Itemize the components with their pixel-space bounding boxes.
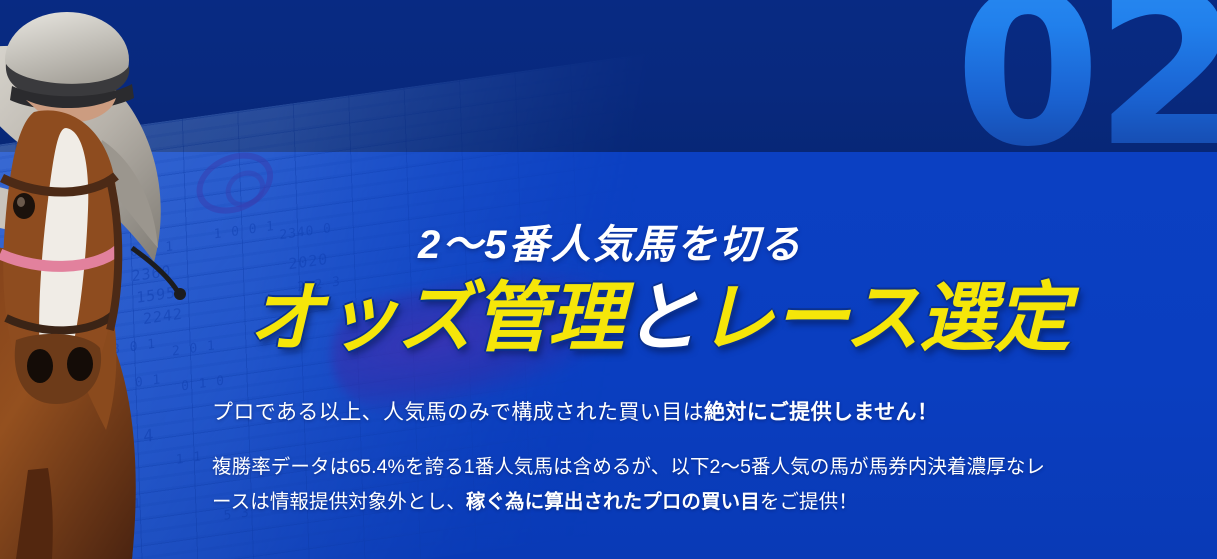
body-paragraph-line-2: ースは情報提供対象外とし、稼ぐ為に算出されたプロの買い目をご提供！ [212,485,1045,520]
lead-text-strong: 絶対にご提供しません！ [704,401,938,424]
body-paragraph-line-2-start: ースは情報提供対象外とし、 [212,491,466,513]
headline-main-part2: と [623,276,698,361]
body-paragraph-line-1: 複勝率データは65.4%を誇る1番人気馬は含めるが、以下2〜5番人気の馬が馬券内… [212,450,1045,485]
headline-main-part3: レース選定 [698,276,1069,361]
headline-main: オッズ管理とレース選定 [248,281,1069,357]
lead-text: プロである以上、人気馬のみで構成された買い目は絶対にご提供しません！ [212,396,938,426]
lead-text-normal: プロである以上、人気馬のみで構成された買い目は [212,401,704,424]
body-paragraph-line-2-end: をご提供！ [760,491,858,513]
headline-main-part1: オッズ管理 [248,276,623,361]
body-paragraph: 複勝率データは65.4%を誇る1番人気馬は含めるが、以下2〜5番人気の馬が馬券内… [212,450,1045,520]
body-paragraph-line-2-strong: 稼ぐ為に算出されたプロの買い目 [466,491,760,513]
step-number: 02 [955,0,1217,176]
step-banner: 1 0 0 1 1 0 0 1 2340 0 2360 1595 2020 22… [0,0,1217,559]
headline-sub: 2〜5番人気馬を切る [418,212,803,270]
